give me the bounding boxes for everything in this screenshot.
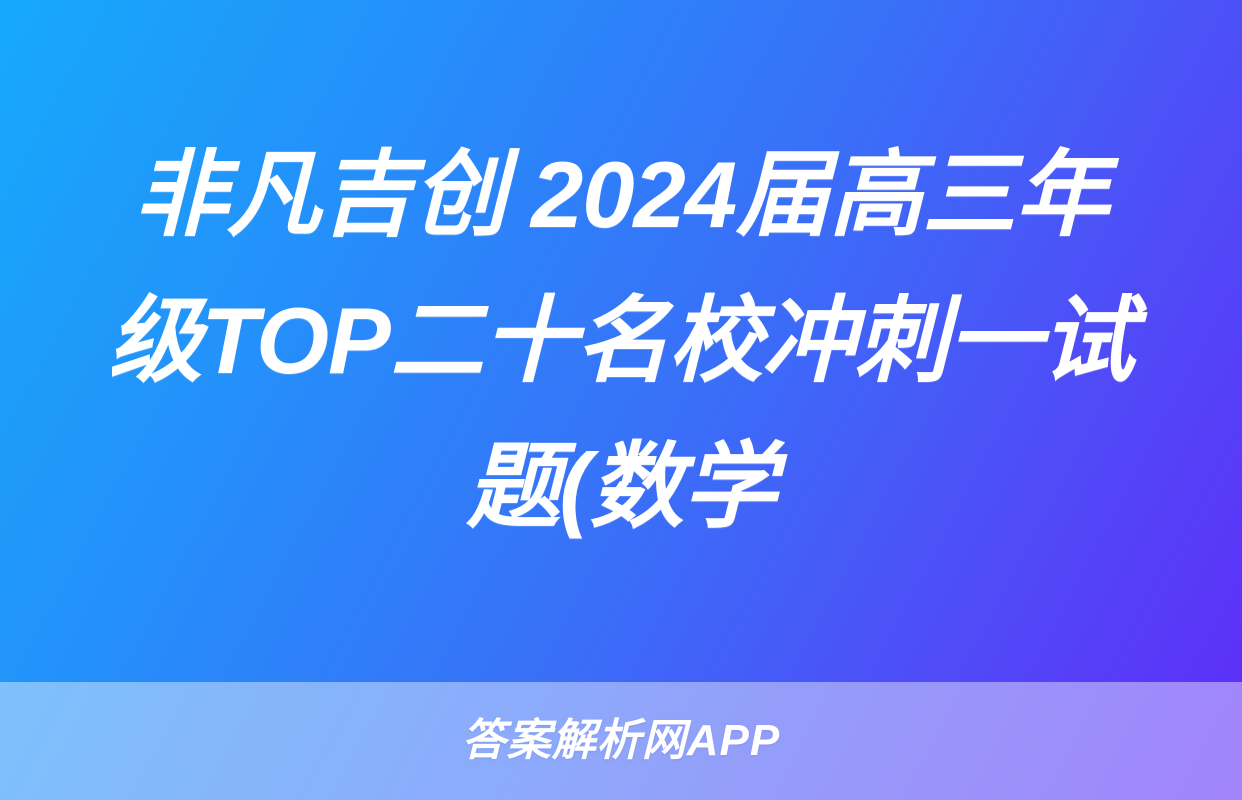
watermark-band: 答案解析网APP <box>0 682 1242 800</box>
page-title-line-2: 级TOP二十名校冲刺一试 <box>86 268 1156 414</box>
poster-title-block: 非凡吉创 2024届高三年 级TOP二十名校冲刺一试 题(数学 <box>0 0 1242 682</box>
watermark-text: 答案解析网APP <box>462 715 780 767</box>
page-title-line-1: 非凡吉创 2024届高三年 <box>86 122 1156 268</box>
poster-canvas: 非凡吉创 2024届高三年 级TOP二十名校冲刺一试 题(数学 答案解析网APP <box>0 0 1242 800</box>
page-title-line-3: 题(数学 <box>86 414 1156 560</box>
